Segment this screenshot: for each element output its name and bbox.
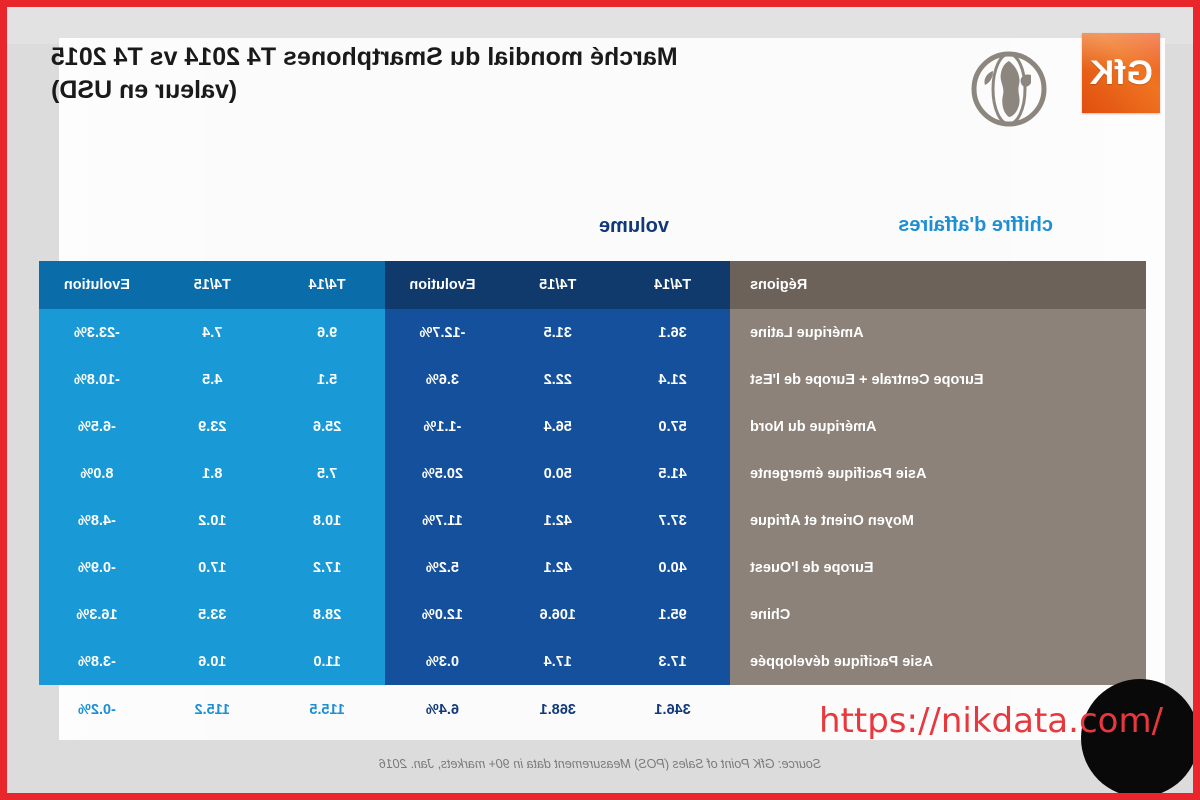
row-volume-t414: 37.7 — [615, 497, 730, 544]
row-volume-evolution: -12.7% — [385, 309, 501, 356]
row-revenue-t414: 25.6 — [270, 403, 385, 450]
row-volume-t415: 17.4 — [500, 638, 615, 685]
row-revenue-t415: 4.5 — [155, 356, 270, 403]
row-volume-t415: 42.1 — [500, 544, 615, 591]
row-revenue-t414: 11.0 — [270, 638, 385, 685]
table-row[interactable]: Chine95.1106.612.0%28.833.516.3% — [39, 591, 1146, 638]
table-body: Amérique Latine36.131.5-12.7%9.67.4-23.3… — [39, 309, 1146, 685]
total-volume-t414: 346.1 — [615, 685, 730, 735]
row-volume-t414: 40.0 — [615, 544, 730, 591]
row-revenue-t414: 10.8 — [270, 497, 385, 544]
row-revenue-evolution: -0.9% — [39, 544, 155, 591]
row-volume-t414: 17.3 — [615, 638, 730, 685]
row-region: Europe de l'Ouest — [730, 544, 1146, 591]
total-revenue-t415: 115.2 — [155, 685, 270, 735]
total-volume-t415: 368.1 — [500, 685, 615, 735]
page-title-line2: (valeur en USD) — [51, 74, 771, 107]
table-row[interactable]: Amérique du Nord57.056.4-1.1%25.623.9-6.… — [39, 403, 1146, 450]
row-region: Amérique du Nord — [730, 403, 1146, 450]
row-region: Chine — [730, 591, 1146, 638]
row-revenue-t414: 5.1 — [270, 356, 385, 403]
gfk-logo: GfK — [1082, 33, 1160, 113]
table-row[interactable]: Europe Centrale + Europe de l'Est21.422.… — [39, 356, 1146, 403]
table-row[interactable]: Asie Pacifique émergente41.550.020.5%7.5… — [39, 450, 1146, 497]
row-revenue-evolution: 8.0% — [39, 450, 155, 497]
row-revenue-evolution: -10.8% — [39, 356, 155, 403]
watermark-url: https://nikdata.com/ — [819, 701, 1163, 741]
row-volume-t414: 41.5 — [615, 450, 730, 497]
page-title-line1: Marché mondial du Smartphones T4 2014 vs… — [51, 41, 771, 74]
row-volume-t415: 50.0 — [500, 450, 615, 497]
row-volume-evolution: 20.5% — [385, 450, 501, 497]
row-volume-t415: 31.5 — [500, 309, 615, 356]
row-revenue-evolution: -4.8% — [39, 497, 155, 544]
column-header-volume-evolution[interactable]: Evolution — [385, 261, 501, 309]
row-revenue-t415: 10.2 — [155, 497, 270, 544]
row-volume-t415: 42.1 — [500, 497, 615, 544]
row-revenue-t415: 23.9 — [155, 403, 270, 450]
row-revenue-evolution: -3.8% — [39, 638, 155, 685]
row-revenue-t414: 17.2 — [270, 544, 385, 591]
row-volume-evolution: 12.0% — [385, 591, 501, 638]
table-row[interactable]: Europe de l'Ouest40.042.15.2%17.217.0-0.… — [39, 544, 1146, 591]
row-revenue-t415: 8.1 — [155, 450, 270, 497]
table-row[interactable]: Asie Pacifique développée17.317.40.3%11.… — [39, 638, 1146, 685]
row-revenue-evolution: 16.3% — [39, 591, 155, 638]
column-header-regions[interactable]: Régions — [730, 261, 1146, 309]
row-volume-t415: 56.4 — [500, 403, 615, 450]
column-header-volume-t414[interactable]: T4/14 — [615, 261, 730, 309]
row-revenue-t415: 7.4 — [155, 309, 270, 356]
row-volume-evolution: 3.6% — [385, 356, 501, 403]
row-revenue-t414: 9.6 — [270, 309, 385, 356]
globe-icon — [971, 51, 1047, 127]
column-header-volume-t415[interactable]: T4/15 — [500, 261, 615, 309]
row-volume-evolution: -1.1% — [385, 403, 501, 450]
table-row[interactable]: Moyen Orient et Afrique37.742.111.7%10.8… — [39, 497, 1146, 544]
row-volume-t414: 95.1 — [615, 591, 730, 638]
section-caption-revenue: chiffre d'affaires — [898, 214, 1053, 237]
row-revenue-t414: 28.8 — [270, 591, 385, 638]
row-volume-t414: 57.0 — [615, 403, 730, 450]
row-volume-t415: 22.2 — [500, 356, 615, 403]
row-region: Amérique Latine — [730, 309, 1146, 356]
table-header-row: Régions T4/14 T4/15 Evolution T4/14 T4/1… — [39, 261, 1146, 309]
column-header-revenue-t414[interactable]: T4/14 — [270, 261, 385, 309]
total-revenue-evolution: -0.2% — [39, 685, 155, 735]
row-volume-t415: 106.6 — [500, 591, 615, 638]
row-volume-evolution: 0.3% — [385, 638, 501, 685]
mirrored-slide-stage: GfK Marché mondial du Smartphones T4 201… — [7, 7, 1193, 793]
row-revenue-t415: 33.5 — [155, 591, 270, 638]
row-region: Asie Pacifique émergente — [730, 450, 1146, 497]
section-caption-volume: volume — [599, 215, 669, 238]
row-volume-t414: 36.1 — [615, 309, 730, 356]
row-revenue-t414: 7.5 — [270, 450, 385, 497]
slide-frame: GfK Marché mondial du Smartphones T4 201… — [0, 0, 1200, 800]
row-region: Asie Pacifique développée — [730, 638, 1146, 685]
total-volume-evolution: 6.4% — [385, 685, 501, 735]
row-region: Europe Centrale + Europe de l'Est — [730, 356, 1146, 403]
row-revenue-t415: 17.0 — [155, 544, 270, 591]
table-row[interactable]: Amérique Latine36.131.5-12.7%9.67.4-23.3… — [39, 309, 1146, 356]
row-volume-evolution: 11.7% — [385, 497, 501, 544]
page-title: Marché mondial du Smartphones T4 2014 vs… — [51, 41, 771, 106]
row-volume-t414: 21.4 — [615, 356, 730, 403]
total-revenue-t414: 115.5 — [270, 685, 385, 735]
market-table: Régions T4/14 T4/15 Evolution T4/14 T4/1… — [39, 261, 1146, 735]
source-note: Source: GfK Point of Sales (POS) Measure… — [7, 757, 1193, 771]
row-volume-evolution: 5.2% — [385, 544, 501, 591]
row-revenue-evolution: -23.3% — [39, 309, 155, 356]
row-revenue-evolution: -6.5% — [39, 403, 155, 450]
gfk-logo-text: GfK — [1082, 33, 1160, 113]
row-region: Moyen Orient et Afrique — [730, 497, 1146, 544]
row-revenue-t415: 10.6 — [155, 638, 270, 685]
column-header-revenue-t415[interactable]: T4/15 — [155, 261, 270, 309]
column-header-revenue-evolution[interactable]: Evolution — [39, 261, 155, 309]
